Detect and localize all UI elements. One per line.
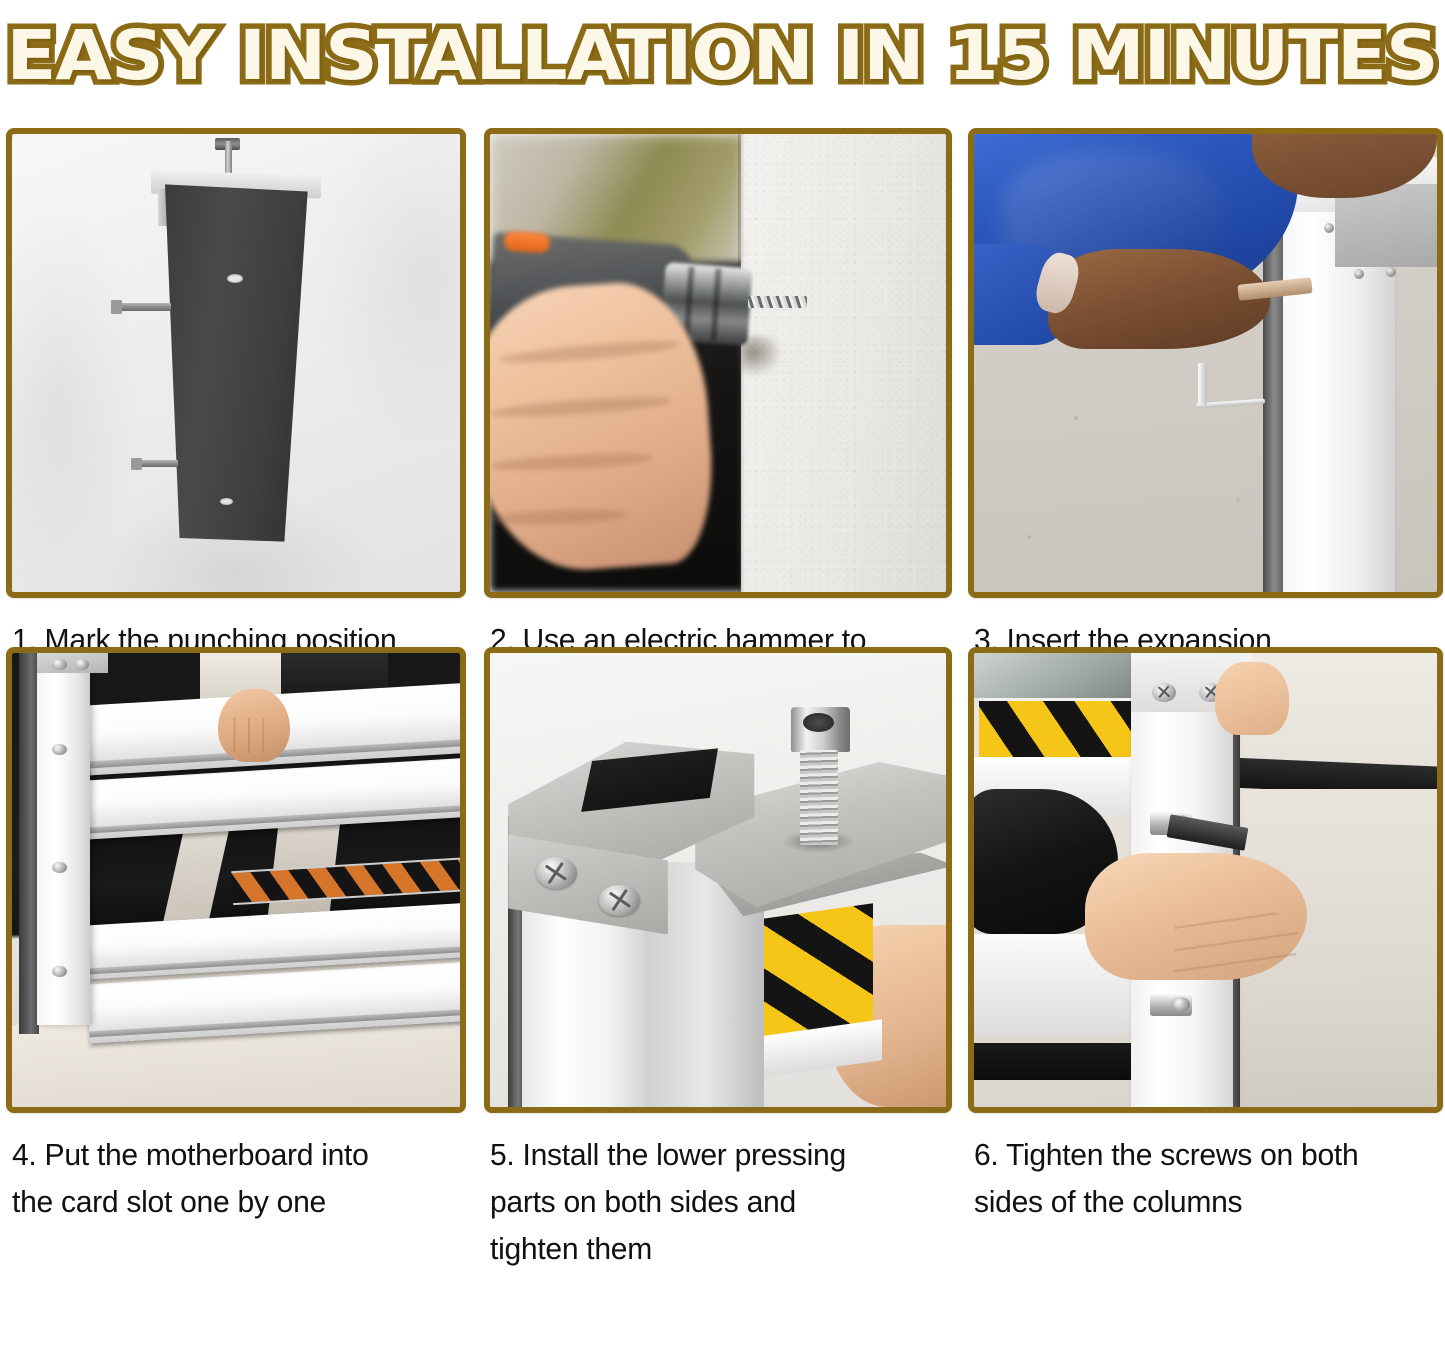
hand-icon — [218, 689, 290, 762]
drill-bit-icon — [748, 296, 807, 308]
step-caption-6: 6. Tighten the screws on both sides of t… — [974, 1131, 1429, 1225]
step-caption-5: 5. Install the lower pressing parts on b… — [490, 1131, 938, 1272]
template-hole-icon — [227, 274, 243, 283]
step-cell-1: 1. Mark the punching position — [0, 112, 478, 627]
arm-icon — [1048, 249, 1270, 350]
step-photo-frame-4 — [6, 647, 466, 1113]
page-title-banner: EASY INSTALLATION IN 15 MINUTES — [0, 0, 1445, 112]
marking-template-plate — [162, 184, 308, 541]
step-photo-3 — [974, 134, 1437, 592]
hazard-stripe-yellow — [979, 698, 1136, 763]
step-cell-5: 5. Install the lower pressing parts on b… — [478, 627, 962, 1252]
screw-icon — [1386, 267, 1396, 277]
step-photo-1 — [12, 134, 460, 592]
step-photo-frame-2 — [484, 128, 952, 598]
step-photo-frame-3 — [968, 128, 1443, 598]
steps-grid: 1. Mark the punching position — [0, 112, 1445, 1352]
installation-guide-page: EASY INSTALLATION IN 15 MINUTES — [0, 0, 1445, 1352]
screw-icon — [52, 659, 66, 670]
hand-icon — [1085, 853, 1307, 980]
step-caption-4: 4. Put the motherboard into the card slo… — [12, 1131, 452, 1225]
screw-icon — [52, 862, 66, 873]
step-photo-5 — [490, 653, 946, 1107]
screw-icon — [52, 744, 66, 755]
step-photo-frame-5 — [484, 647, 952, 1113]
hex-key-icon — [1196, 363, 1265, 423]
step-cell-2: 2. Use an electric hammer to drill holes… — [478, 112, 962, 627]
screw-icon — [1324, 223, 1334, 233]
hand-icon — [1215, 662, 1289, 735]
step-photo-2 — [490, 134, 946, 592]
step-cell-3: 3. Insert the expansion screw into the h… — [962, 112, 1445, 627]
page-title: EASY INSTALLATION IN 15 MINUTES — [7, 21, 1438, 91]
step-photo-frame-6 — [968, 647, 1443, 1113]
screw-icon — [1354, 269, 1364, 279]
screw-icon — [52, 966, 66, 977]
step-photo-frame-1 — [6, 128, 466, 598]
step-photo-6 — [974, 653, 1437, 1107]
step-cell-6: 6. Tighten the screws on both sides of t… — [962, 627, 1445, 1252]
step-cell-4: 4. Put the motherboard into the card slo… — [0, 627, 478, 1252]
step-photo-4 — [12, 653, 460, 1107]
hex-bolt-icon — [791, 707, 850, 843]
phillips-screw-icon — [536, 857, 577, 889]
